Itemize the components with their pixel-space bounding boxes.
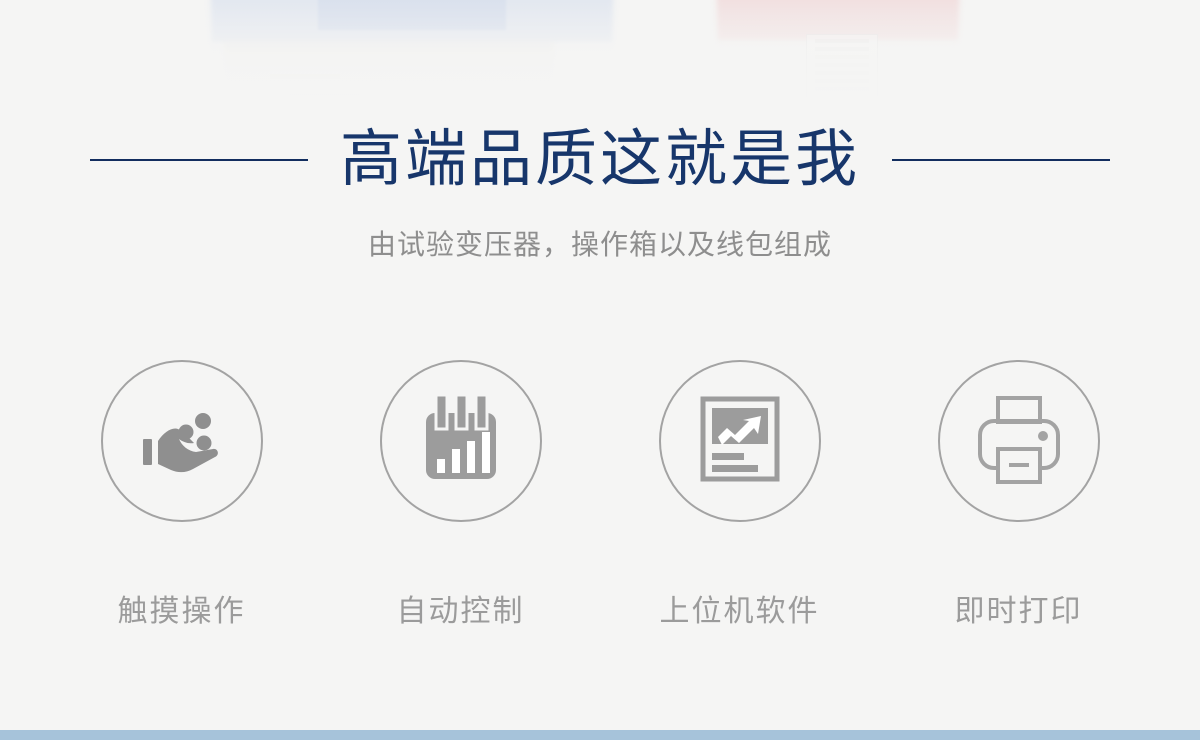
bottom-accent-band — [0, 730, 1200, 740]
hand-touch-icon — [134, 391, 230, 492]
page-subtitle: 由试验变压器，操作箱以及线包组成 — [0, 223, 1200, 263]
feature-list: 触摸操作 自动控制 — [42, 360, 1158, 630]
title-rule-right-icon — [892, 159, 1110, 161]
top-image-remnant — [0, 0, 1200, 104]
feature-item-touch-operation: 触摸操作 — [42, 360, 321, 630]
report-document-chart-icon — [692, 391, 788, 492]
feature-icon-circle — [938, 360, 1100, 522]
feature-item-auto-control: 自动控制 — [321, 360, 600, 630]
feature-label: 上位机软件 — [660, 586, 820, 630]
printer-icon — [971, 391, 1067, 492]
feature-icon-circle — [101, 360, 263, 522]
feature-item-instant-print: 即时打印 — [879, 360, 1158, 630]
control-panel-chart-icon — [413, 391, 509, 492]
title-rule-left-icon — [90, 159, 308, 161]
feature-icon-circle — [380, 360, 542, 522]
feature-icon-circle — [659, 360, 821, 522]
heading-row: 高端品质这就是我 — [0, 108, 1200, 212]
feature-label: 自动控制 — [397, 586, 525, 630]
page-title: 高端品质这就是我 — [340, 129, 860, 191]
feature-label: 即时打印 — [955, 586, 1083, 630]
feature-item-host-software: 上位机软件 — [600, 360, 879, 630]
product-feature-banner: 高端品质这就是我 由试验变压器，操作箱以及线包组成 触摸操作 — [0, 0, 1200, 740]
remnant-whiteout-overlay — [0, 0, 1200, 104]
feature-label: 触摸操作 — [118, 586, 246, 630]
